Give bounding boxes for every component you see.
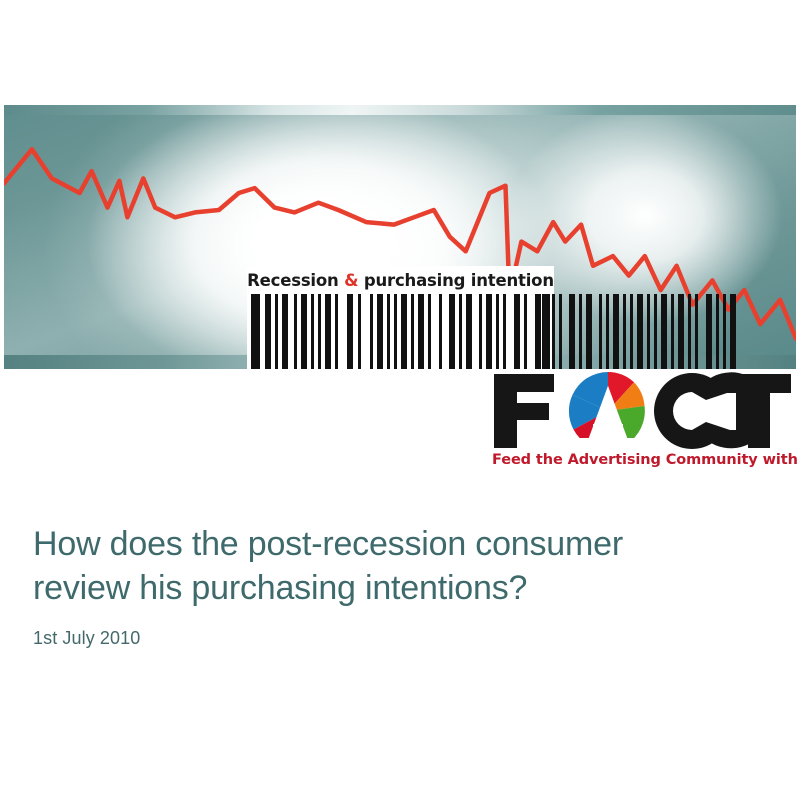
barcode-bar	[394, 294, 397, 369]
page-title: How does the post-recession consumer rev…	[33, 522, 773, 610]
barcode-bar	[586, 294, 592, 369]
barcode-bar	[401, 294, 407, 369]
barcode-bar	[613, 294, 619, 369]
barcode-bar	[514, 294, 520, 369]
barcode-bar	[542, 294, 548, 369]
page-title-line-1: How does the post-recession consumer	[33, 525, 623, 563]
barcode-bar	[552, 294, 555, 369]
title-block: How does the post-recession consumer rev…	[33, 522, 773, 610]
barcode-bar	[325, 294, 331, 369]
barcode-bar	[486, 294, 492, 369]
barcode-edge-bar-left	[251, 294, 260, 369]
barcode-bar	[503, 294, 506, 369]
barcode-bar	[335, 294, 338, 369]
barcode-bar	[282, 294, 288, 369]
barcode-graphic: Recession & purchasing intention	[247, 266, 554, 369]
barcode-bar	[716, 294, 719, 369]
barcode-bar	[301, 294, 307, 369]
barcode-bar	[311, 294, 314, 369]
barcode-bar	[411, 294, 414, 369]
barcode-bar	[294, 294, 297, 369]
barcode-bar	[418, 294, 424, 369]
barcode-bar	[358, 294, 361, 369]
barcode-bar	[579, 294, 582, 369]
barcode-label-before: Recession	[247, 271, 344, 290]
barcode-bar	[630, 294, 633, 369]
page-title-line-2: review his purchasing intentions?	[33, 569, 527, 607]
barcode-bar	[599, 294, 602, 369]
logo-a-base-gap	[570, 438, 646, 452]
barcode-bar	[654, 294, 657, 369]
barcode-label: Recession & purchasing intention	[247, 270, 554, 292]
barcode-bar	[479, 294, 482, 369]
barcode-bar	[671, 294, 674, 369]
barcode-bar	[706, 294, 712, 369]
fact-wordmark	[492, 370, 792, 452]
logo-letter-f	[494, 374, 554, 448]
fact-tagline: Feed the Advertising Community with Tren…	[492, 452, 786, 468]
fact-logo: Feed the Advertising Community with Tren…	[492, 370, 792, 478]
barcode-bar	[428, 294, 431, 369]
barcode-bar	[524, 294, 527, 369]
barcode-bar	[347, 294, 353, 369]
barcode-bar	[678, 294, 684, 369]
barcode-label-ampersand: &	[344, 271, 358, 290]
logo-letter-a-disc	[569, 372, 647, 452]
barcode-bar	[559, 294, 562, 369]
barcode-bar	[623, 294, 626, 369]
barcode-bar	[459, 294, 462, 369]
barcode-bar	[439, 294, 442, 369]
barcode-bar	[318, 294, 321, 369]
barcode-bar	[275, 294, 278, 369]
barcode-bar	[569, 294, 575, 369]
barcode-bar	[647, 294, 650, 369]
barcode-bar	[535, 294, 538, 369]
barcode-bar	[606, 294, 609, 369]
barcode-bar	[637, 294, 643, 369]
barcode-bar	[466, 294, 472, 369]
barcode-bars	[251, 294, 550, 369]
recession-banner: Recession & purchasing intention	[4, 105, 796, 369]
barcode-bar	[723, 294, 726, 369]
barcode-bar	[661, 294, 667, 369]
barcode-bar	[449, 294, 455, 369]
barcode-bar	[265, 294, 271, 369]
barcode-bar	[688, 294, 691, 369]
barcode-bar	[730, 294, 736, 369]
barcode-bar	[370, 294, 373, 369]
barcode-bar	[695, 294, 698, 369]
barcode-bar	[496, 294, 499, 369]
deck-date: 1st July 2010	[33, 628, 140, 649]
barcode-label-after: purchasing intention	[358, 271, 554, 290]
barcode-bar	[377, 294, 383, 369]
barcode-bar	[387, 294, 390, 369]
